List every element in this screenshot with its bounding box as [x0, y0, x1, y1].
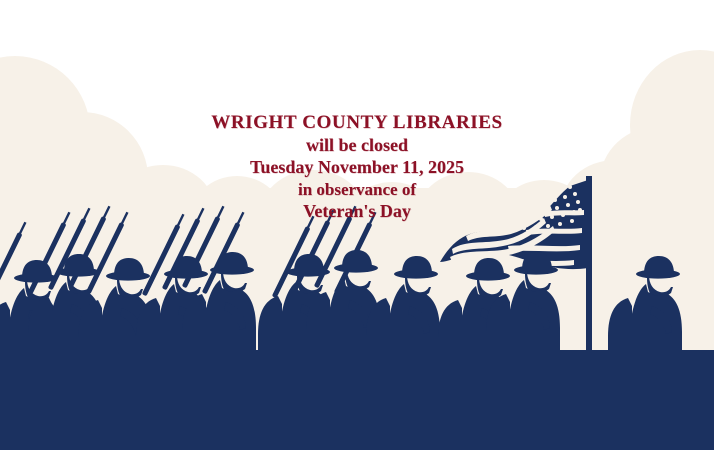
- message-line-4: in observance of: [0, 180, 714, 199]
- message-line-1: WRIGHT COUNTY LIBRARIES: [0, 112, 714, 133]
- message-line-2: will be closed: [0, 135, 714, 155]
- soldier-group-mid: [136, 205, 440, 359]
- soldier-group-left: [0, 205, 152, 363]
- soldier-group-right: [438, 252, 682, 361]
- soldier-silhouette-artwork: [0, 0, 714, 450]
- closure-message: WRIGHT COUNTY LIBRARIES will be closed T…: [0, 112, 714, 221]
- message-line-3: Tuesday November 11, 2025: [0, 157, 714, 177]
- soldier-silhouette: [366, 256, 440, 359]
- veterans-day-closure-poster: WRIGHT COUNTY LIBRARIES will be closed T…: [0, 0, 714, 450]
- ground-overlay: [0, 352, 714, 450]
- message-line-5: Veteran's Day: [0, 201, 714, 221]
- soldier-silhouette: [608, 256, 682, 359]
